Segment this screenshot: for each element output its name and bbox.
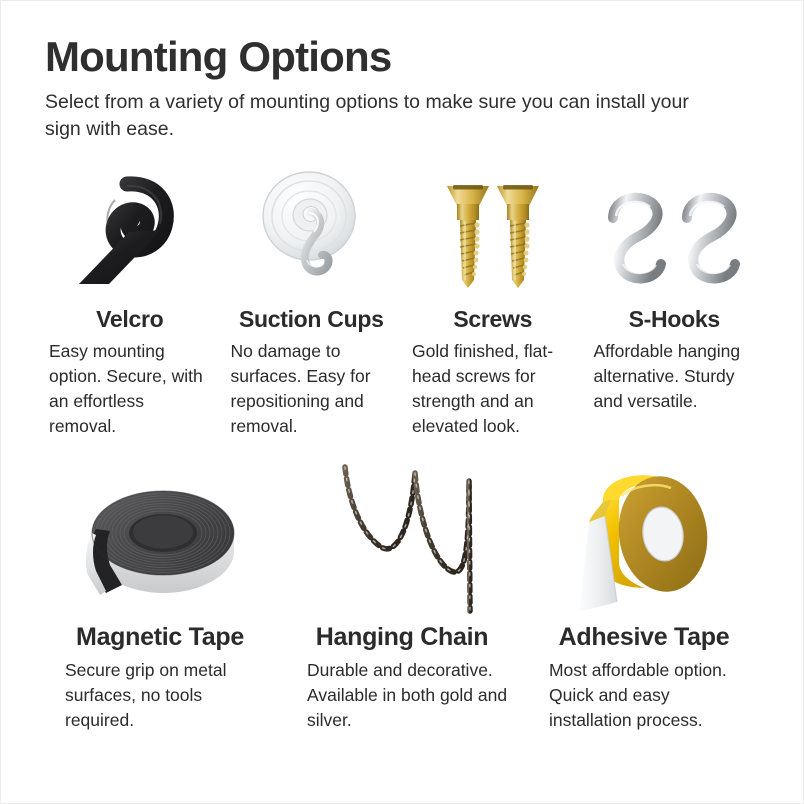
magnetic-tape-roll-icon [47, 457, 273, 617]
option-card-s-hooks[interactable]: S-Hooks Affordable hanging alternative. … [584, 158, 766, 438]
option-title: Adhesive Tape [531, 623, 757, 652]
option-card-hanging-chain[interactable]: Hanging Chain Durable and decorative. Av… [281, 457, 523, 733]
velcro-strap-icon [47, 158, 213, 300]
option-description: Most affordable option. Quick and easy i… [531, 658, 757, 733]
page-subtitle: Select from a variety of mounting option… [45, 89, 725, 143]
option-title: S-Hooks [592, 306, 758, 333]
option-card-velcro[interactable]: Velcro Easy mounting option. Secure, wit… [39, 158, 221, 438]
header: Mounting Options Select from a variety o… [1, 1, 803, 142]
option-title: Suction Cups [229, 306, 395, 333]
option-title: Hanging Chain [289, 623, 515, 652]
option-description: Affordable hanging alternative. Sturdy a… [592, 339, 758, 414]
option-title: Velcro [47, 306, 213, 333]
option-card-magnetic-tape[interactable]: Magnetic Tape Secure grip on metal surfa… [39, 457, 281, 733]
option-description: Secure grip on metal surfaces, no tools … [47, 658, 273, 733]
flat-head-screws-icon [410, 158, 576, 300]
option-card-screws[interactable]: Screws Gold finished, flat-head screws f… [402, 158, 584, 438]
option-description: Gold finished, flat-head screws for stre… [410, 339, 576, 438]
page-title: Mounting Options [45, 35, 759, 79]
option-description: Easy mounting option. Secure, with an ef… [47, 339, 213, 438]
option-description: No damage to surfaces. Easy for repositi… [229, 339, 395, 438]
mounting-options-row-1: Velcro Easy mounting option. Secure, wit… [1, 158, 803, 438]
option-card-suction-cups[interactable]: Suction Cups No damage to surfaces. Easy… [221, 158, 403, 438]
option-title: Magnetic Tape [47, 623, 273, 652]
mounting-options-panel: Mounting Options Select from a variety o… [0, 0, 804, 804]
s-hooks-icon [592, 158, 758, 300]
adhesive-tape-roll-icon [531, 457, 757, 617]
option-card-adhesive-tape[interactable]: Adhesive Tape Most affordable option. Qu… [523, 457, 765, 733]
option-description: Durable and decorative. Available in bot… [289, 658, 515, 733]
option-title: Screws [410, 306, 576, 333]
suction-cup-hook-icon [229, 158, 395, 300]
mounting-options-row-2: Magnetic Tape Secure grip on metal surfa… [1, 457, 803, 733]
hanging-chain-icon [289, 457, 515, 617]
